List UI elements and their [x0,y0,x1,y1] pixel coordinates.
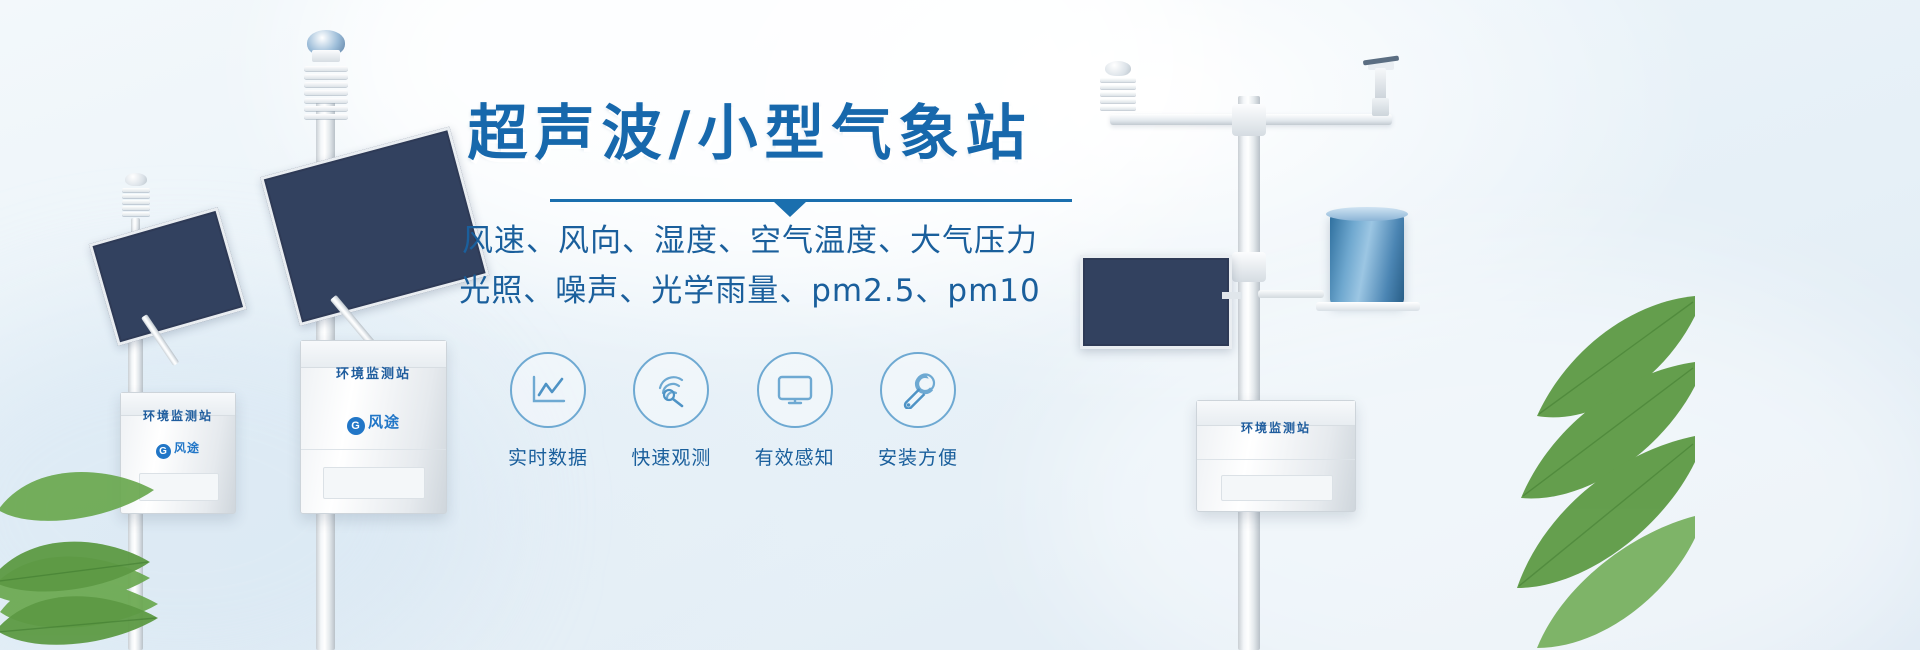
solar-panel-right [1080,255,1232,349]
brand-logo-tall: G风途 [301,411,446,435]
banner-text-block: 超声波/小型气象站 风速、风向、湿度、空气温度、大气压力 光照、噪声、光学雨量、… [440,104,1060,470]
monitor-icon [757,352,833,428]
rain-gauge-funnel [1326,207,1408,221]
sensor-radiation-shield-tall [304,66,348,120]
feature-label: 有效感知 [745,443,845,470]
enclosure-label-right: 环境监测站 [1197,419,1355,436]
radar-signal-icon [633,352,709,428]
wrench-icon [880,352,956,428]
enclosure-vent-right [1221,475,1333,501]
feature-label: 安装方便 [868,443,968,470]
enclosure-box-right: 环境监测站 [1196,400,1356,512]
rain-gauge-shelf [1316,302,1420,311]
feature-list: 实时数据 快速观测 [498,352,968,470]
divider-triangle-icon [773,201,807,217]
enclosure-label-small: 环境监测站 [121,407,235,424]
enclosure-box-tall: 环境监测站 G风途 [300,340,447,514]
product-banner: 环境监测站 G风途 环境监测站 G风途 [0,0,1920,650]
feature-fast-observation[interactable]: 快速观测 [621,352,721,470]
mast-collar-mid [1232,252,1266,282]
banner-subtitle-line-1: 风速、风向、湿度、空气温度、大气压力 [440,216,1060,266]
enclosure-vent-tall [323,467,425,499]
leaf-decoration-right [1395,276,1695,650]
feature-effective-sensing[interactable]: 有效感知 [745,352,845,470]
enclosure-seam-right [1197,459,1355,460]
sensor-radiation-shield-small [122,180,150,220]
brand-mark-icon-small: G [156,444,171,459]
enclosure-label-tall: 环境监测站 [301,363,446,382]
brand-mark-icon-tall: G [347,417,365,435]
rain-gauge-right [1330,213,1404,305]
enclosure-seam [301,449,446,450]
divider-line [550,199,1072,202]
banner-subtitle-line-2: 光照、噪声、光学雨量、pm2.5、pm10 [440,266,1060,316]
brand-logo-small: G风途 [121,439,235,459]
solar-panel-small [89,207,247,346]
solar-panel-mount-right [1222,292,1242,299]
rain-gauge-arm [1258,290,1324,298]
feature-label: 快速观测 [621,443,721,470]
feature-label: 实时数据 [498,443,598,470]
line-chart-icon [510,352,586,428]
mast-pole-right [1238,96,1260,650]
feature-easy-install[interactable]: 安装方便 [868,352,968,470]
enclosure-vent-small [139,473,219,501]
sensor-radiation-shield-right [1100,70,1136,114]
enclosure-box-small: 环境监测站 G风途 [120,392,236,514]
mast-collar-top [1232,104,1266,136]
feature-realtime-data[interactable]: 实时数据 [498,352,598,470]
ultrasonic-sensor-base [312,50,340,62]
banner-title: 超声波/小型气象站 [440,104,1060,164]
title-divider [440,190,1060,216]
